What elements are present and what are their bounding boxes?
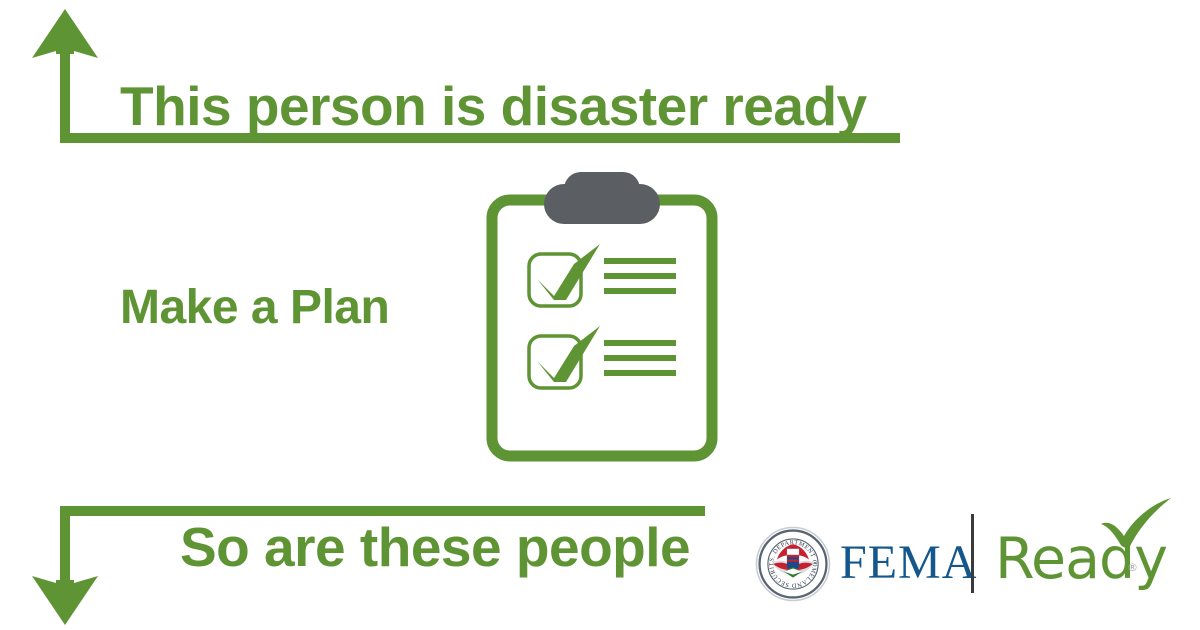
clipboard-checklist-icon xyxy=(484,172,720,464)
clipboard-board xyxy=(492,200,712,456)
registered-trademark-mark: ® xyxy=(1127,562,1138,574)
logo-divider xyxy=(971,514,974,593)
ready-checkmark-icon xyxy=(1097,496,1173,552)
headline-bottom: So are these people xyxy=(180,517,690,577)
fema-wordmark: FEMA xyxy=(840,534,977,592)
checklist-item-2 xyxy=(529,326,676,388)
page-subtitle: Make a Plan xyxy=(120,280,389,336)
headline-top: This person is disaster ready xyxy=(120,76,867,136)
text-lines-2 xyxy=(604,340,676,376)
footer-logo-lockup: U.S. DEPARTMENT OF HOMELAND SECURITY FEM… xyxy=(752,498,1192,618)
poster-canvas: This person is disaster ready Make a Pla… xyxy=(0,0,1200,630)
checklist-item-1 xyxy=(529,244,676,306)
clipboard-clip xyxy=(544,172,660,224)
dhs-seal-icon: U.S. DEPARTMENT OF HOMELAND SECURITY xyxy=(755,526,831,602)
text-lines-1 xyxy=(604,258,676,294)
